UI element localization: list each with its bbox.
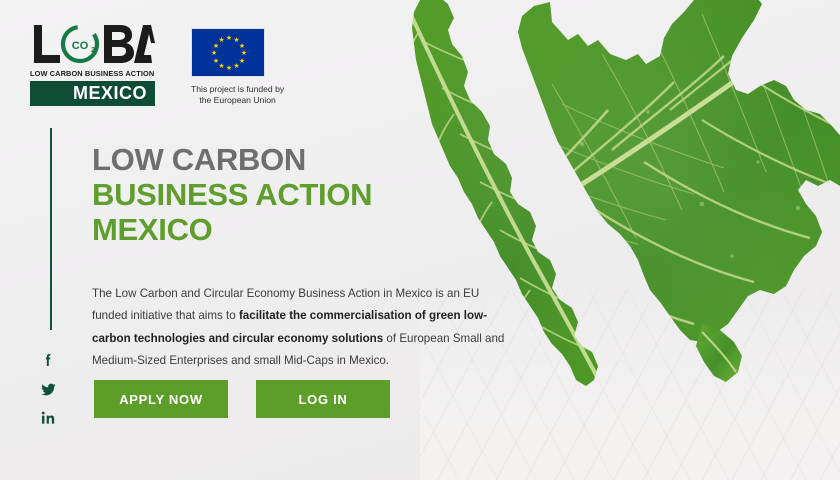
lcba-country-banner: MEXICO — [30, 81, 155, 106]
eu-star-icon: ★ — [211, 50, 218, 57]
twitter-icon[interactable] — [38, 379, 58, 399]
eu-flag-icon: ★★★★★★★★★★★★ — [191, 28, 265, 77]
headline-line-3: MEXICO — [92, 212, 512, 247]
linkedin-icon[interactable] — [38, 408, 58, 428]
lcba-tagline: LOW CARBON BUSINESS ACTION — [30, 69, 155, 78]
log-in-button[interactable]: LOG IN — [256, 380, 390, 418]
hero-description: The Low Carbon and Circular Economy Busi… — [92, 283, 508, 372]
eu-star-icon: ★ — [218, 37, 225, 44]
lcba-wordmark: CO 2 — [30, 20, 155, 68]
page-title: LOW CARBON BUSINESS ACTION MEXICO — [92, 142, 512, 247]
apply-now-button[interactable]: APPLY NOW — [94, 380, 228, 418]
facebook-icon[interactable] — [38, 350, 58, 370]
svg-text:CO: CO — [72, 40, 89, 52]
eu-star-icon: ★ — [213, 58, 220, 65]
svg-text:2: 2 — [91, 47, 95, 54]
social-links — [38, 350, 58, 428]
headline-line-2: BUSINESS ACTION — [92, 177, 512, 212]
eu-funding-block: ★★★★★★★★★★★★ This project is funded by t… — [191, 20, 284, 107]
eu-caption-line1: This project is funded by — [191, 84, 284, 95]
lcba-logo[interactable]: CO 2 LOW CARBON BUSINESS ACTION MEXICO — [30, 20, 155, 106]
eu-star-icon: ★ — [226, 35, 233, 42]
lcba-country-label: MEXICO — [73, 83, 147, 104]
logo-row: CO 2 LOW CARBON BUSINESS ACTION MEXICO ★… — [30, 20, 284, 107]
vertical-divider — [50, 128, 52, 330]
eu-star-icon: ★ — [226, 65, 233, 72]
hero-copy: LOW CARBON BUSINESS ACTION MEXICO The Lo… — [92, 142, 512, 372]
cta-button-row: APPLY NOW LOG IN — [94, 380, 390, 418]
map-yucatan — [696, 324, 742, 382]
eu-star-icon: ★ — [241, 50, 248, 57]
eu-star-icon: ★ — [233, 63, 240, 70]
eu-caption: This project is funded by the European U… — [191, 84, 284, 107]
eu-caption-line2: the European Union — [191, 95, 284, 106]
headline-line-1: LOW CARBON — [92, 142, 512, 177]
eu-star-icon: ★ — [238, 43, 245, 50]
